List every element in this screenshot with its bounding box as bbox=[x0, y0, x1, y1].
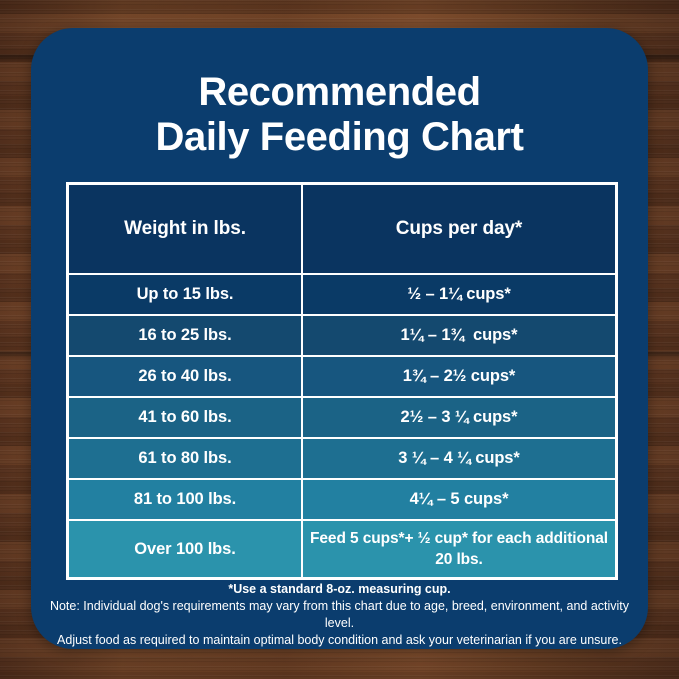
table-row: Over 100 lbs. Feed 5 cups*+ ½ cup* for e… bbox=[68, 520, 616, 578]
feeding-chart-table: Weight in lbs. Cups per day* Up to 15 lb… bbox=[66, 182, 618, 580]
table-header-row: Weight in lbs. Cups per day* bbox=[68, 184, 616, 274]
table-row: 16 to 25 lbs. 1¼ – 1¾ cups* bbox=[68, 315, 616, 356]
title-line-1: Recommended bbox=[31, 70, 648, 115]
cell-cups: Feed 5 cups*+ ½ cup* for each additional… bbox=[302, 520, 616, 578]
cell-weight: Over 100 lbs. bbox=[68, 520, 302, 578]
page-title: Recommended Daily Feeding Chart bbox=[31, 70, 648, 160]
footnote-note: Note: Individual dog's requirements may … bbox=[43, 598, 636, 632]
title-line-2: Daily Feeding Chart bbox=[31, 115, 648, 160]
cell-weight: 41 to 60 lbs. bbox=[68, 397, 302, 438]
table-row: Up to 15 lbs. ½ – 1¼ cups* bbox=[68, 274, 616, 315]
table-row: 41 to 60 lbs. 2½ – 3 ¼ cups* bbox=[68, 397, 616, 438]
feeding-chart-card: Recommended Daily Feeding Chart Weight i… bbox=[31, 28, 648, 649]
cell-weight: 26 to 40 lbs. bbox=[68, 356, 302, 397]
cell-cups: 2½ – 3 ¼ cups* bbox=[302, 397, 616, 438]
footnote-adjust: Adjust food as required to maintain opti… bbox=[43, 632, 636, 649]
cell-cups: 4¼ – 5 cups* bbox=[302, 479, 616, 520]
cell-weight: 61 to 80 lbs. bbox=[68, 438, 302, 479]
table-row: 61 to 80 lbs. 3 ¼ – 4 ¼ cups* bbox=[68, 438, 616, 479]
cell-weight: 81 to 100 lbs. bbox=[68, 479, 302, 520]
cell-weight: 16 to 25 lbs. bbox=[68, 315, 302, 356]
table-body: Up to 15 lbs. ½ – 1¼ cups* 16 to 25 lbs.… bbox=[68, 274, 616, 578]
table-row: 81 to 100 lbs. 4¼ – 5 cups* bbox=[68, 479, 616, 520]
cell-cups: ½ – 1¼ cups* bbox=[302, 274, 616, 315]
footnotes: *Use a standard 8-oz. measuring cup. Not… bbox=[43, 580, 636, 649]
footnote-measuring-cup: *Use a standard 8-oz. measuring cup. bbox=[43, 580, 636, 598]
cell-cups: 1¾ – 2½ cups* bbox=[302, 356, 616, 397]
column-header-weight: Weight in lbs. bbox=[68, 184, 302, 274]
table-header: Weight in lbs. Cups per day* bbox=[68, 184, 616, 274]
cell-weight: Up to 15 lbs. bbox=[68, 274, 302, 315]
cell-cups: 3 ¼ – 4 ¼ cups* bbox=[302, 438, 616, 479]
table-row: 26 to 40 lbs. 1¾ – 2½ cups* bbox=[68, 356, 616, 397]
cell-cups: 1¼ – 1¾ cups* bbox=[302, 315, 616, 356]
column-header-cups: Cups per day* bbox=[302, 184, 616, 274]
